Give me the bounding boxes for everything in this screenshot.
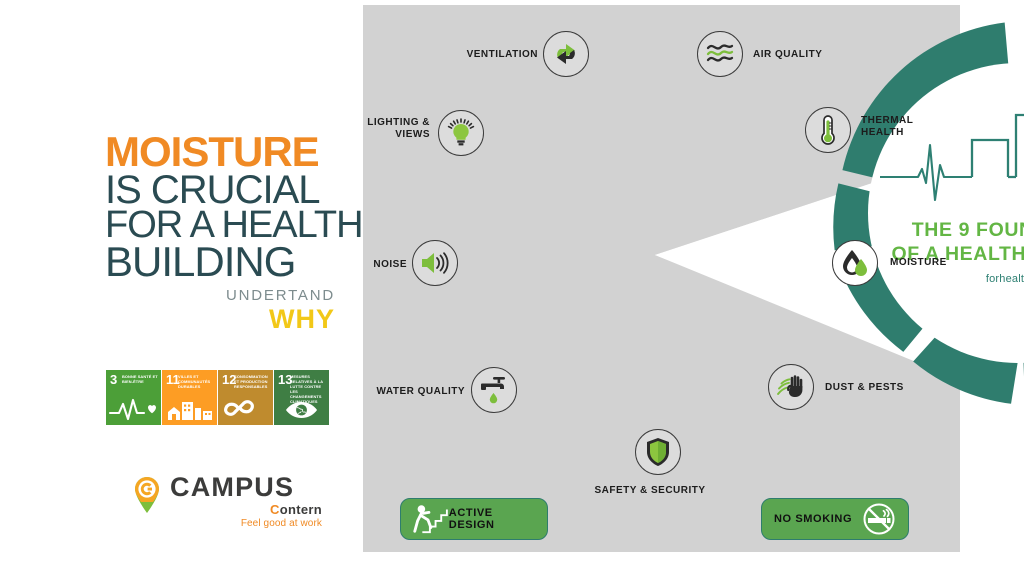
- lightbulb-icon: [446, 118, 476, 148]
- subheadline: UNDERTAND WHY: [105, 288, 335, 333]
- page-title: MOISTURE IS CRUCIAL FOR A HEALTHY BUILDI…: [105, 133, 335, 282]
- campus-logo-name: CAMPUS: [170, 474, 294, 501]
- slide-root: MOISTURE IS CRUCIAL FOR A HEALTHY BUILDI…: [0, 0, 1024, 573]
- speaker-icon: [420, 251, 450, 275]
- faucet-drop-icon: [479, 375, 509, 405]
- location-pin-icon: [132, 476, 162, 514]
- active-design-button[interactable]: ACTIVE DESIGN: [400, 498, 548, 540]
- eye-globe-icon: [274, 394, 329, 422]
- sdg-badge-3: 3 BONNE SANTÉ ET BIEN-ÊTRE: [106, 370, 161, 425]
- headline-line-2: IS CRUCIAL: [105, 172, 335, 209]
- node-label-lighting-views: LIGHTING & VIEWS: [363, 117, 430, 141]
- active-design-label: ACTIVE DESIGN: [449, 507, 537, 531]
- campus-sub-rest: ontern: [280, 502, 322, 517]
- campus-sub-first: C: [270, 502, 280, 517]
- sdg-label: VILLES ET COMMUNAUTÉS DURABLES: [178, 374, 215, 389]
- campus-logo: CAMPUS Contern Feel good at work: [132, 472, 322, 534]
- subheadline-big: WHY: [105, 305, 335, 333]
- node-ventilation[interactable]: [543, 31, 589, 77]
- sdg-label: BONNE SANTÉ ET BIEN-ÊTRE: [122, 374, 159, 384]
- sdg-badge-11: 11 VILLES ET COMMUNAUTÉS DURABLES: [162, 370, 217, 425]
- left-content-column: MOISTURE IS CRUCIAL FOR A HEALTHY BUILDI…: [0, 0, 360, 573]
- node-label-moisture: MOISTURE: [890, 257, 1010, 269]
- node-water-quality[interactable]: [471, 367, 517, 413]
- sdg-label: CONSOMMATION ET PRODUCTION RESPONSABLES: [234, 374, 271, 389]
- sdg-badge-row: 3 BONNE SANTÉ ET BIEN-ÊTRE 11 VILLES ET …: [106, 370, 329, 425]
- node-label-noise: NOISE: [363, 259, 407, 271]
- no-smoking-button[interactable]: NO SMOKING: [761, 498, 909, 540]
- sdg-badge-12: 12 CONSOMMATION ET PRODUCTION RESPONSABL…: [218, 370, 273, 425]
- shield-icon: [645, 437, 671, 467]
- city-buildings-icon: [162, 394, 217, 422]
- node-lighting-views[interactable]: [438, 110, 484, 156]
- hand-dust-icon: [776, 374, 806, 400]
- recycle-arrows-icon: [552, 40, 580, 68]
- node-label-safety-security: SAFETY & SECURITY: [575, 485, 725, 497]
- node-air-quality[interactable]: [697, 31, 743, 77]
- node-dust-pests[interactable]: [768, 364, 814, 410]
- campus-tagline: Feel good at work: [170, 518, 322, 529]
- node-noise[interactable]: [412, 240, 458, 286]
- node-label-dust-pests: DUST & PESTS: [825, 382, 955, 394]
- sdg-badge-13: 13 MESURES RELATIVES À LA LUTTE CONTRE L…: [274, 370, 329, 425]
- subheadline-small: UNDERTAND: [105, 288, 335, 305]
- headline-line-1: MOISTURE: [105, 133, 335, 172]
- infographic-panel: THE 9 FOUNDATIONS OF A HEALTHY BUILDING …: [363, 5, 1024, 552]
- no-smoking-icon: [862, 502, 896, 536]
- node-label-water-quality: WATER QUALITY: [363, 386, 465, 398]
- node-label-ventilation: VENTILATION: [398, 49, 538, 61]
- wavy-lines-icon: [706, 42, 734, 66]
- campus-logo-subname: Contern: [170, 502, 322, 517]
- headline-line-4: BUILDING: [105, 243, 335, 282]
- wheel-center-title-line1: THE 9 FOUNDATIONS: [868, 221, 1024, 241]
- node-label-thermal-health: THERMAL HEALTH: [861, 115, 971, 139]
- wheel-center-url: forhealth.org: [868, 273, 1024, 285]
- person-stairs-icon: [411, 503, 449, 535]
- sdg-number: 3: [110, 373, 117, 386]
- thermometer-icon: [817, 115, 839, 145]
- no-smoking-label: NO SMOKING: [774, 513, 852, 525]
- node-safety-security[interactable]: [635, 429, 681, 475]
- node-thermal-health[interactable]: [805, 107, 851, 153]
- node-moisture[interactable]: [832, 240, 878, 286]
- infinity-icon: [218, 394, 273, 422]
- node-label-air-quality: AIR QUALITY: [753, 49, 893, 61]
- heartbeat-icon: [106, 394, 161, 422]
- water-droplet-icon: [841, 248, 869, 278]
